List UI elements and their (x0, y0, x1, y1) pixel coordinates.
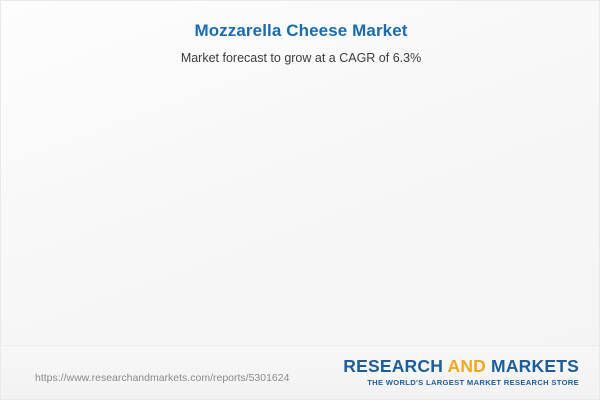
footer-bar: https://www.researchandmarkets.com/repor… (1, 345, 600, 399)
chart-canvas: Mozzarella Cheese Market Market forecast… (0, 0, 600, 400)
logo-word-and: AND (447, 356, 486, 376)
report-url[interactable]: https://www.researchandmarkets.com/repor… (35, 372, 289, 385)
plot-area: USD 41.9 Billion (1, 1, 600, 346)
logo-tagline: THE WORLD'S LARGEST MARKET RESEARCH STOR… (343, 376, 579, 388)
logo-word-markets: MARKETS (486, 356, 579, 376)
logo-wordmark: RESEARCH AND MARKETS (343, 356, 579, 376)
research-and-markets-logo[interactable]: RESEARCH AND MARKETS THE WORLD'S LARGEST… (343, 356, 579, 388)
logo-word-research: RESEARCH (343, 356, 447, 376)
